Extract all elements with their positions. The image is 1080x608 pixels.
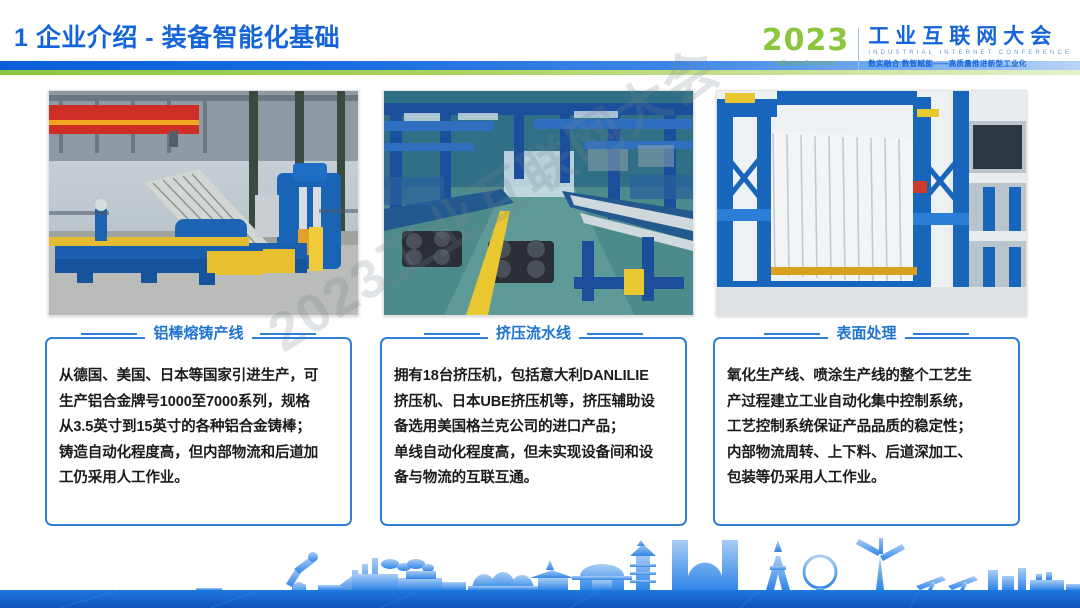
photo-extrusion-production-line [383, 90, 694, 316]
card-1-line-5: 工仍采用人工作业。 [59, 466, 340, 492]
card-1-line-4: 铸造自动化程度高，但内部物流和后道加 [59, 441, 340, 467]
card-2-line-5: 备与物流的互联互通。 [394, 466, 675, 492]
logo-year-subtitle: 中国·苏州 8月14日-16日 [776, 60, 836, 67]
card-2-rule-right [587, 333, 643, 335]
page-title: 1 企业介绍 - 装备智能化基础 [14, 18, 340, 54]
card-1-rule-right [260, 333, 316, 335]
photo-surface-treatment-line [716, 90, 1027, 316]
card-1-line-2: 生产铝合金牌号1000至7000系列，规格 [59, 390, 340, 416]
card-3-body: 氧化生产线、喷涂生产线的整个工艺生 产过程建立工业自动化集中控制系统， 工艺控制… [727, 364, 1008, 492]
card-2-line-2: 挤压机、日本UBE挤压机等，挤压辅助设 [394, 390, 675, 416]
card-3-title: 表面处理 [828, 326, 904, 341]
card-2-rule-left [424, 333, 480, 335]
card-3-line-1: 氧化生产线、喷涂生产线的整个工艺生 [727, 364, 1008, 390]
card-3-line-4: 内部物流周转、上下料、后道深加工、 [727, 441, 1008, 467]
card-2-line-1: 拥有18台挤压机，包括意大利DANLILIE [394, 364, 675, 390]
card-1-rule-left [81, 333, 137, 335]
skyline-silhouette [196, 538, 1080, 594]
logo-slogan: 数实融合 数智赋能——高质量推进新型工业化 [868, 58, 1072, 69]
card-surface-treatment: 表面处理 氧化生产线、喷涂生产线的整个工艺生 产过程建立工业自动化集中控制系统，… [713, 337, 1020, 526]
photo-2-graphic [384, 91, 693, 315]
card-1-header: 铝棒熔铸产线 [47, 326, 350, 341]
card-1-line-1: 从德国、美国、日本等国家引进生产，可 [59, 364, 340, 390]
footer-skyline [0, 538, 1080, 608]
card-2-header: 挤压流水线 [382, 326, 685, 341]
card-2-line-4: 单线自动化程度高，但未实现设备间和设 [394, 441, 675, 467]
card-1-line-3: 从3.5英寸到15英寸的各种铝合金铸棒； [59, 415, 340, 441]
logo-name-cn: 工业互联网大会 [868, 26, 1072, 48]
photo-aluminum-billet-casting-line [48, 90, 359, 316]
card-3-line-5: 包装等仍采用人工作业。 [727, 466, 1008, 492]
footer-skyline-graphic [0, 538, 1080, 608]
card-2-body: 拥有18台挤压机，包括意大利DANLILIE 挤压机、日本UBE挤压机等，挤压辅… [394, 364, 675, 492]
logo-year: 2023 [762, 26, 850, 56]
photo-3-graphic [717, 91, 1026, 315]
card-3-line-3: 工艺控制系统保证产品品质的稳定性； [727, 415, 1008, 441]
card-1-body: 从德国、美国、日本等国家引进生产，可 生产铝合金牌号1000至7000系列，规格… [59, 364, 340, 492]
card-2-line-3: 备选用美国格兰克公司的进口产品； [394, 415, 675, 441]
card-3-rule-right [913, 333, 969, 335]
logo-year-block: 2023 中国·苏州 8月14日-16日 [762, 26, 859, 67]
photo-1-graphic [49, 91, 358, 315]
conference-logo: 2023 中国·苏州 8月14日-16日 工业互联网大会 INDUSTRIAL … [762, 26, 1072, 74]
card-2-title: 挤压流水线 [488, 326, 579, 341]
card-aluminum-billet-casting-line: 铝棒熔铸产线 从德国、美国、日本等国家引进生产，可 生产铝合金牌号1000至70… [45, 337, 352, 526]
card-extrusion-production-line: 挤压流水线 拥有18台挤压机，包括意大利DANLILIE 挤压机、日本UBE挤压… [380, 337, 687, 526]
card-3-rule-left [764, 333, 820, 335]
logo-name-block: 工业互联网大会 INDUSTRIAL INTERNET CONFERENCE 数… [859, 26, 1072, 69]
card-3-line-2: 产过程建立工业自动化集中控制系统， [727, 390, 1008, 416]
logo-name-en: INDUSTRIAL INTERNET CONFERENCE [868, 50, 1072, 56]
slide-header: 1 企业介绍 - 装备智能化基础 2023 中国·苏州 8月14日-16日 工业… [0, 0, 1080, 84]
card-1-title: 铝棒熔铸产线 [145, 326, 251, 341]
slide-root: 1 企业介绍 - 装备智能化基础 2023 中国·苏州 8月14日-16日 工业… [0, 0, 1080, 608]
card-3-header: 表面处理 [715, 326, 1018, 341]
